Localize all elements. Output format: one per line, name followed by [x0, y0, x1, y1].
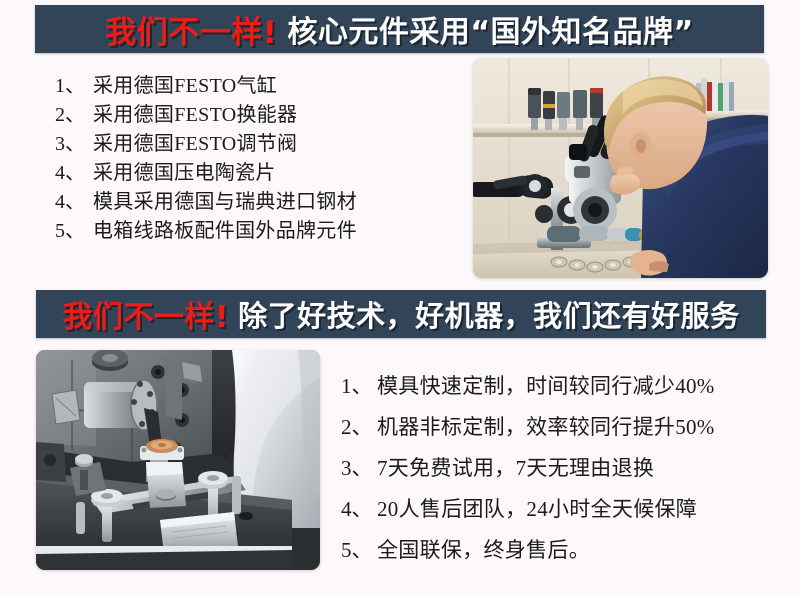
list-item-label: 采用德国FESTO气缸 — [93, 72, 277, 101]
list-item-label: 采用德国FESTO调节阀 — [93, 130, 297, 159]
list-item-label: 模具快速定制，时间较同行减少40% — [377, 366, 715, 407]
list-item-number: 3、 — [341, 448, 377, 489]
list-item-number: 5、 — [55, 217, 93, 246]
list-item-number: 2、 — [55, 101, 93, 130]
list-item-number: 4、 — [55, 159, 93, 188]
section2-banner-text: 除了好技术，好机器，我们还有好服务 — [238, 293, 740, 335]
list-item-label: 全国联保，终身售后。 — [377, 530, 590, 571]
list-item-number: 1、 — [341, 366, 377, 407]
list-item-number: 4、 — [55, 188, 93, 217]
technician-using-stereo-microscope-photo — [473, 58, 768, 278]
list-item: 5、 电箱线路板配件国外品牌元件 — [55, 217, 465, 246]
list-item-label: 20人售后团队，24小时全天候保障 — [377, 489, 697, 530]
list-item-number: 2、 — [341, 407, 377, 448]
section2-banner-highlight: 我们不一样! — [62, 292, 229, 336]
list-item-label: 电箱线路板配件国外品牌元件 — [93, 217, 357, 246]
list-item-number: 1、 — [55, 72, 93, 101]
list-item-label: 模具采用德国与瑞典进口钢材 — [93, 188, 357, 217]
list-item: 5、 全国联保，终身售后。 — [341, 530, 781, 571]
list-item: 1、 采用德国FESTO气缸 — [55, 72, 465, 101]
list-item: 4、 20人售后团队，24小时全天候保障 — [341, 489, 781, 530]
list-item-label: 7天免费试用，7天无理由退换 — [377, 448, 654, 489]
list-item-label: 机器非标定制，效率较同行提升50% — [377, 407, 715, 448]
list-item-label: 采用德国FESTO换能器 — [93, 101, 297, 130]
section1-banner: 我们不一样! 核心元件采用“国外知名品牌” — [35, 5, 764, 53]
list-item-number: 5、 — [341, 530, 377, 571]
list-item-number: 3、 — [55, 130, 93, 159]
section1-banner-text: 核心元件采用“国外知名品牌” — [287, 7, 693, 51]
section1-feature-list: 1、 采用德国FESTO气缸 2、 采用德国FESTO换能器 3、 采用德国FE… — [55, 72, 465, 246]
list-item: 3、 7天免费试用，7天无理由退换 — [341, 448, 781, 489]
section2-banner: 我们不一样! 除了好技术，好机器，我们还有好服务 — [36, 290, 766, 338]
list-item: 4、 采用德国压电陶瓷片 — [55, 159, 465, 188]
list-item: 1、 模具快速定制，时间较同行减少40% — [341, 366, 781, 407]
ultrasonic-welding-machine-tooling-closeup-photo — [36, 350, 320, 570]
section2-service-list: 1、 模具快速定制，时间较同行减少40% 2、 机器非标定制，效率较同行提升50… — [341, 366, 781, 571]
list-item: 2、 机器非标定制，效率较同行提升50% — [341, 407, 781, 448]
promo-page: 我们不一样! 核心元件采用“国外知名品牌” 1、 采用德国FESTO气缸 2、 … — [0, 0, 800, 597]
list-item: 2、 采用德国FESTO换能器 — [55, 101, 465, 130]
list-item: 4、 模具采用德国与瑞典进口钢材 — [55, 188, 465, 217]
list-item-number: 4、 — [341, 489, 377, 530]
section1-banner-highlight: 我们不一样! — [105, 7, 277, 52]
list-item: 3、 采用德国FESTO调节阀 — [55, 130, 465, 159]
list-item-label: 采用德国压电陶瓷片 — [93, 159, 276, 188]
